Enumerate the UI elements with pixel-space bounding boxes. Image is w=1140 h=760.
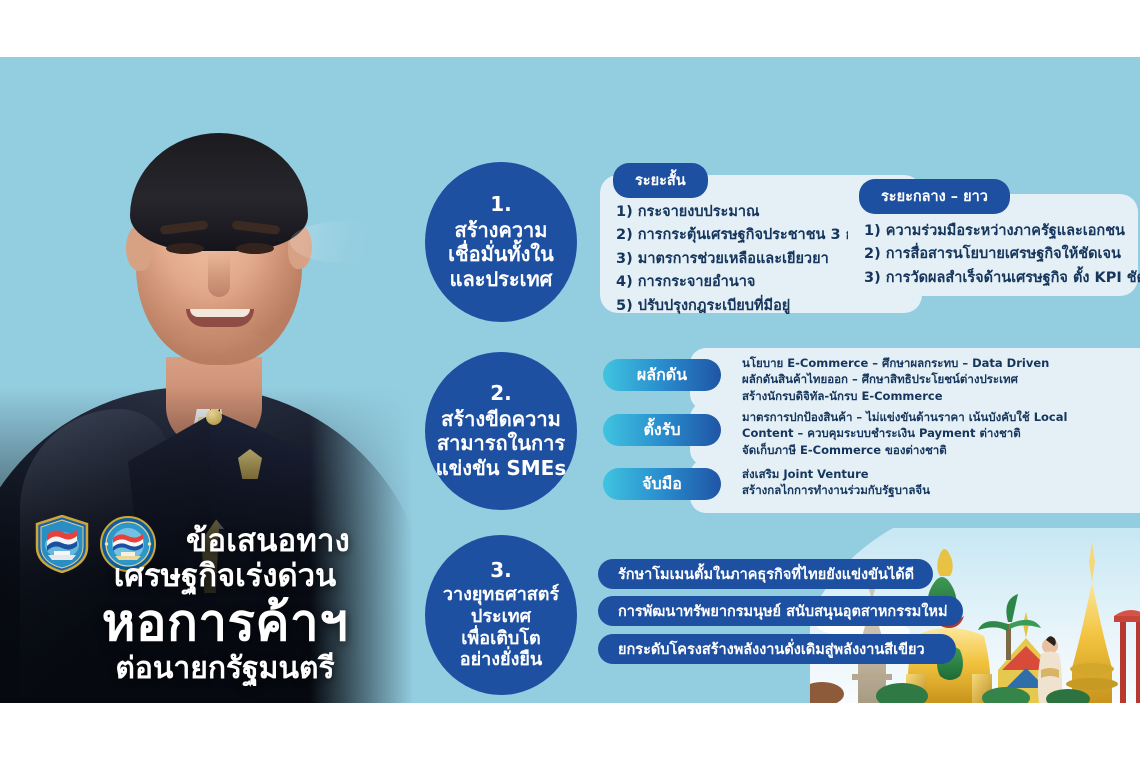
long-term-list: 1) ความร่วมมือระหว่างภาครัฐและเอกชน 2) ก… <box>864 220 1120 290</box>
section-2-label: สร้างขีดความ สามารถในการ แข่งขัน SMEs <box>436 407 567 480</box>
list-item: 3) การวัดผลสำเร็จด้านเศรษฐกิจ ตั้ง KPI ช… <box>864 267 1120 290</box>
section-2-row-2-pill: ตั้งรับ <box>603 414 721 446</box>
roof-structure <box>810 682 844 703</box>
portrait-nose <box>208 253 230 297</box>
section-2-number: 2. <box>490 382 512 404</box>
title-line-2: เศรษฐกิจเร่งด่วน <box>40 559 410 594</box>
golden-chedi <box>1066 542 1118 703</box>
section-1-number: 1. <box>490 193 512 215</box>
infographic-canvas: ข้อเสนอทาง เศรษฐกิจเร่งด่วน หอการค้าฯ ต่… <box>0 0 1140 760</box>
section-2-circle: 2. สร้างขีดความ สามารถในการ แข่งขัน SMEs <box>425 352 577 510</box>
section-3-bar-1: รักษาโมเมนตั้มในภาคธุรกิจที่ไทยยังแข่งขั… <box>598 559 933 589</box>
section-3-circle: 3. วางยุทธศาสตร์ ประเทศ เพื่อเติบโต อย่า… <box>425 535 577 695</box>
section-2-row-1-pill: ผลักดัน <box>603 359 721 391</box>
section-2-row-3-text: ส่งเสริม Joint Venture สร้างกลไกการทำงาน… <box>690 459 1140 513</box>
long-term-tag: ระยะกลาง – ยาว <box>859 179 1010 214</box>
portrait-right-eye <box>236 243 274 254</box>
portrait-left-eye <box>166 243 204 254</box>
list-item: 1) ความร่วมมือระหว่างภาครัฐและเอกชน <box>864 220 1120 243</box>
section-1-circle: 1. สร้างความ เชื่อมั่นทั้งใน และประเทศ <box>425 162 577 322</box>
section-3-bar-2: การพัฒนาทรัพยากรมนุษย์ สนับสนุนอุตสาหกรร… <box>598 596 963 626</box>
section-2-row-1-text: นโยบาย E-Commerce – ศึกษาผลกระทบ – Data … <box>690 348 1140 410</box>
portrait-mouth <box>186 309 254 327</box>
title-line-3: หอการค้าฯ <box>40 597 410 650</box>
section-2-row-3-pill: จับมือ <box>603 468 721 500</box>
short-term-tag: ระยะสั้น <box>613 163 708 198</box>
portrait-teeth <box>190 309 250 317</box>
list-item: 2) การสื่อสารนโยบายเศรษฐกิจให้ชัดเจน <box>864 243 1120 266</box>
section-3-number: 3. <box>490 559 512 581</box>
title-line-1: ข้อเสนอทาง <box>126 525 410 558</box>
section-1-label: สร้างความ เชื่อมั่นทั้งใน และประเทศ <box>448 218 554 291</box>
section-2-row-2-text: มาตรการปกป้องสินค้า – ไม่แข่งขันด้านราคา… <box>690 402 1140 466</box>
portrait-chin-shading <box>168 329 270 365</box>
main-title: ข้อเสนอทาง เศรษฐกิจเร่งด่วน หอการค้าฯ ต่… <box>40 525 410 685</box>
section-3-bar-3: ยกระดับโครงสร้างพลังงานดั่งเดิมสู่พลังงา… <box>598 634 956 664</box>
infographic-board: ข้อเสนอทาง เศรษฐกิจเร่งด่วน หอการค้าฯ ต่… <box>0 57 1140 703</box>
giant-swing <box>1114 610 1140 703</box>
title-line-4: ต่อนายกรัฐมนตรี <box>40 652 410 685</box>
section-3-label: วางยุทธศาสตร์ ประเทศ เพื่อเติบโต อย่างยั… <box>443 584 559 672</box>
